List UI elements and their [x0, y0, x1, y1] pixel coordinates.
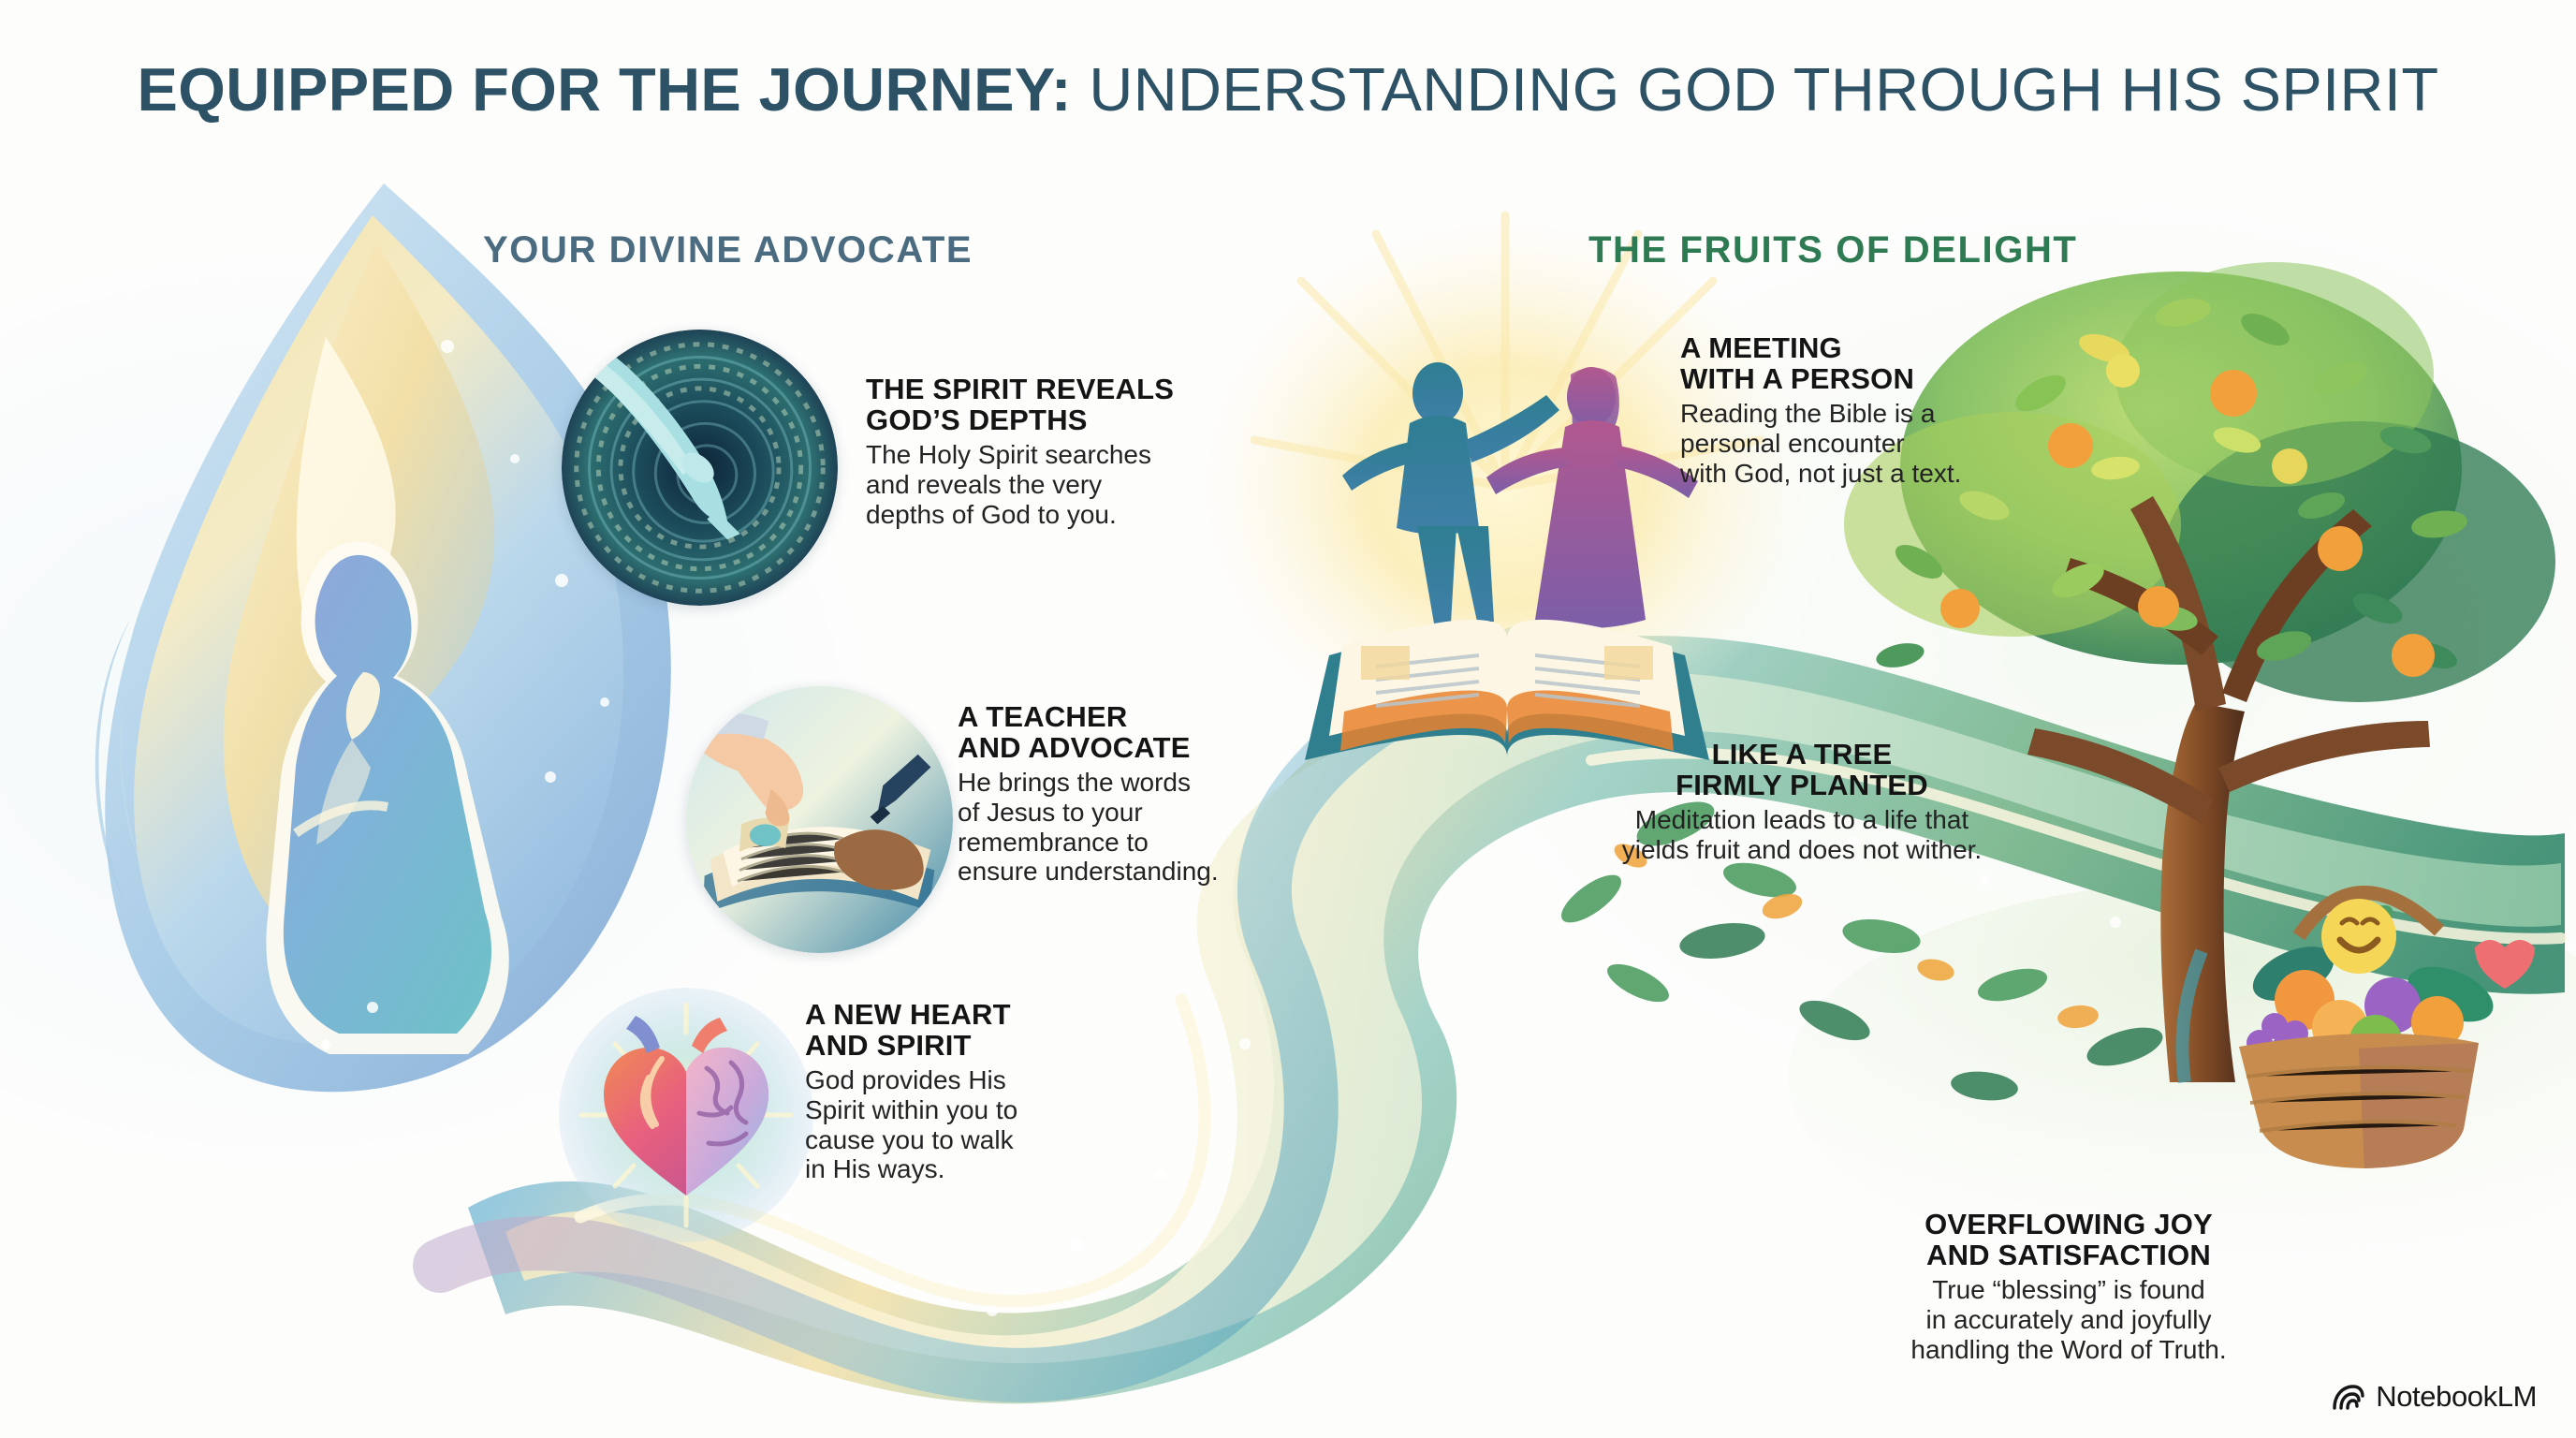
item-body: The Holy Spirit searches and reveals the…	[866, 440, 1240, 530]
watermark-label: NotebookLM	[2376, 1380, 2537, 1414]
item-body: God provides His Spirit within you to ca…	[805, 1065, 1123, 1185]
item-new-heart-and-spirit: A NEW HEART AND SPIRIT God provides His …	[805, 1000, 1123, 1184]
hand-pointing-at-open-book-icon	[686, 686, 953, 953]
item-body: Reading the Bible is a personal encounte…	[1680, 399, 2045, 489]
diver-in-deep-water-icon	[562, 330, 838, 606]
item-heading: OVERFLOWING JOY AND SATISFACTION	[1807, 1210, 2331, 1271]
item-spirit-reveals-gods-depths: THE SPIRIT REVEALS GOD’S DEPTHS The Holy…	[866, 374, 1240, 529]
item-heading: A MEETING WITH A PERSON	[1680, 333, 2045, 395]
notebooklm-watermark: NotebookLM	[2331, 1380, 2537, 1414]
item-body: True “blessing” is found in accurately a…	[1807, 1275, 2331, 1365]
item-meeting-with-a-person: A MEETING WITH A PERSON Reading the Bibl…	[1680, 333, 2045, 488]
section-heading-left: YOUR DIVINE ADVOCATE	[483, 229, 973, 271]
notebooklm-spiral-icon	[2331, 1382, 2364, 1412]
item-heading: A NEW HEART AND SPIRIT	[805, 1000, 1123, 1062]
item-heading: LIKE A TREE FIRMLY PLANTED	[1582, 740, 2022, 801]
item-body: Meditation leads to a life that yields f…	[1582, 805, 2022, 865]
item-like-a-tree-firmly-planted: LIKE A TREE FIRMLY PLANTED Meditation le…	[1582, 740, 2022, 865]
section-heading-right: THE FRUITS OF DELIGHT	[1588, 229, 2077, 271]
page-title: EQUIPPED FOR THE JOURNEY: UNDERSTANDING …	[0, 54, 2576, 125]
item-heading: THE SPIRIT REVEALS GOD’S DEPTHS	[866, 374, 1240, 436]
infographic-canvas: EQUIPPED FOR THE JOURNEY: UNDERSTANDING …	[0, 0, 2576, 1438]
glowing-heart-brain-icon	[559, 988, 813, 1242]
item-overflowing-joy-and-satisfaction: OVERFLOWING JOY AND SATISFACTION True “b…	[1807, 1210, 2331, 1364]
praying-figure-in-flame-illustration	[75, 178, 730, 1123]
item-teacher-and-advocate: A TEACHER AND ADVOCATE He brings the wor…	[958, 702, 1313, 887]
item-body: He brings the words of Jesus to your rem…	[958, 768, 1313, 888]
item-heading: A TEACHER AND ADVOCATE	[958, 702, 1313, 764]
title-bold-part: EQUIPPED FOR THE JOURNEY:	[138, 55, 1072, 124]
title-normal-part: UNDERSTANDING GOD THROUGH HIS SPIRIT	[1072, 55, 2439, 124]
